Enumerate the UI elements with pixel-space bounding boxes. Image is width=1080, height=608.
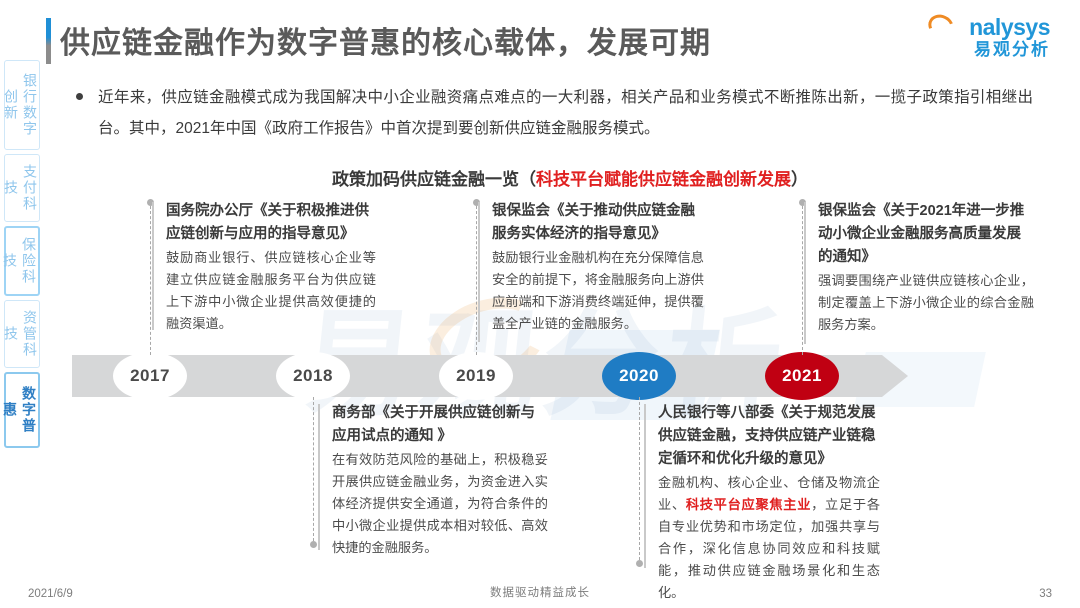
sidebar-item-asset-management-tech[interactable]: 资管科技 <box>4 300 40 368</box>
timeline-year-2019[interactable]: 2019 <box>439 352 513 400</box>
policy-block-body: 在有效防范风险的基础上，积极稳妥开展供应链金融业务，为资金进入实体经济提供安全通… <box>332 449 548 559</box>
sidebar-item-label: 数字普惠 <box>6 380 38 439</box>
policy-block-2020: 人民银行等八部委《关于规范发展供应链金融，支持供应链产业链稳定循环和优化升级的意… <box>658 402 880 604</box>
policy-block-body: 强调要围绕产业链供应链核心企业，制定覆盖上下游小微企业的综合金融服务方案。 <box>818 270 1034 336</box>
block-rule-2019 <box>478 202 480 342</box>
sidebar-item-payment-tech[interactable]: 支付科技 <box>4 154 40 222</box>
policy-block-2019: 银保监会《关于推动供应链金融服务实体经济的指导意见》 鼓励银行业金融机构在充分保… <box>492 200 704 335</box>
slide-canvas: 易观分析 供应链金融作为数字普惠的核心载体，发展可期 nalysys 易观分析 … <box>0 0 1080 608</box>
section-title-plain: 政策加码供应链金融一览（ <box>332 170 536 189</box>
timeline-year-2017[interactable]: 2017 <box>113 352 187 400</box>
footer-tagline: 数据驱动精益成长 <box>0 584 1080 600</box>
connector-dot-2018 <box>310 541 317 548</box>
section-title-highlight: 科技平台赋能供应链金融创新发展 <box>536 170 791 189</box>
connector-line-2019 <box>476 206 477 355</box>
sidebar-item-digital-inclusive-finance[interactable]: 数字普惠 <box>4 372 40 448</box>
footer-divider <box>0 581 1080 582</box>
sidebar-item-label: 保险科技 <box>6 234 38 287</box>
timeline-year-2018[interactable]: 2018 <box>276 352 350 400</box>
brand-logo: nalysys 易观分析 <box>920 14 1050 66</box>
block-rule-2017 <box>152 202 154 330</box>
policy-block-head: 国务院办公厅《关于积极推进供应链创新与应用的指导意见》 <box>166 200 376 246</box>
policy-block-2018: 商务部《关于开展供应链创新与应用试点的通知 》 在有效防范风险的基础上，积极稳妥… <box>332 402 548 559</box>
policy-block-2021: 银保监会《关于2021年进一步推动小微企业金融服务高质量发展的通知》 强调要围绕… <box>818 200 1034 336</box>
logo-chinese-name: 易观分析 <box>920 40 1050 60</box>
policy-block-head: 银保监会《关于2021年进一步推动小微企业金融服务高质量发展的通知》 <box>818 200 1034 269</box>
sidebar-item-label: 支付科技 <box>5 161 39 214</box>
sidebar-item-bank-digital-innovation[interactable]: 银行数字创新 <box>4 60 40 150</box>
sidebar-item-insurance-tech[interactable]: 保险科技 <box>4 226 40 296</box>
sidebar-item-label: 资管科技 <box>5 307 39 360</box>
block-rule-2020 <box>644 404 646 568</box>
policy-block-body: 鼓励商业银行、供应链核心企业等建立供应链金融服务平台为供应链上下游中小微企业提供… <box>166 247 376 335</box>
connector-line-2017 <box>150 206 151 355</box>
timeline-year-2021[interactable]: 2021 <box>765 352 839 400</box>
section-title-tail: ） <box>791 170 808 189</box>
policy-block-head: 银保监会《关于推动供应链金融服务实体经济的指导意见》 <box>492 200 704 246</box>
policy-block-head: 商务部《关于开展供应链创新与应用试点的通知 》 <box>332 402 548 448</box>
block-rule-2018 <box>318 404 320 550</box>
policy-body-highlight: 科技平台应聚焦主业 <box>686 497 811 512</box>
connector-dot-2020 <box>636 560 643 567</box>
policy-block-2017: 国务院办公厅《关于积极推进供应链创新与应用的指导意见》 鼓励商业银行、供应链核心… <box>166 200 376 335</box>
sidebar-item-label: 银行数字创新 <box>5 67 39 142</box>
timeline-arrow-icon <box>882 355 908 397</box>
timeline-year-2020[interactable]: 2020 <box>602 352 676 400</box>
block-rule-2021 <box>804 202 806 344</box>
intro-paragraph: 近年来，供应链金融模式成为我国解决中小企业融资痛点难点的一大利器，相关产品和业务… <box>98 82 1033 144</box>
section-title: 政策加码供应链金融一览（科技平台赋能供应链金融创新发展） <box>332 165 808 190</box>
connector-line-2018 <box>313 397 314 541</box>
policy-body-pre: 在有效防范风险的基础上，积极稳妥开展供应链金融业务，为资金进入实体经济提供安全通… <box>332 452 548 555</box>
policy-block-body: 鼓励银行业金融机构在充分保障信息安全的前提下，将金融服务向上游供应前端和下游消费… <box>492 247 704 335</box>
title-accent-bar <box>46 18 51 64</box>
page-title: 供应链金融作为数字普惠的核心载体，发展可期 <box>60 18 711 62</box>
bullet-dot-icon <box>76 93 83 100</box>
sidebar-tabs: 银行数字创新 支付科技 保险科技 资管科技 数字普惠 <box>4 60 42 452</box>
policy-block-head: 人民银行等八部委《关于规范发展供应链金融，支持供应链产业链稳定循环和优化升级的意… <box>658 402 880 471</box>
connector-line-2020 <box>639 397 640 560</box>
connector-line-2021 <box>802 206 803 355</box>
footer-page-number: 33 <box>1039 588 1052 600</box>
